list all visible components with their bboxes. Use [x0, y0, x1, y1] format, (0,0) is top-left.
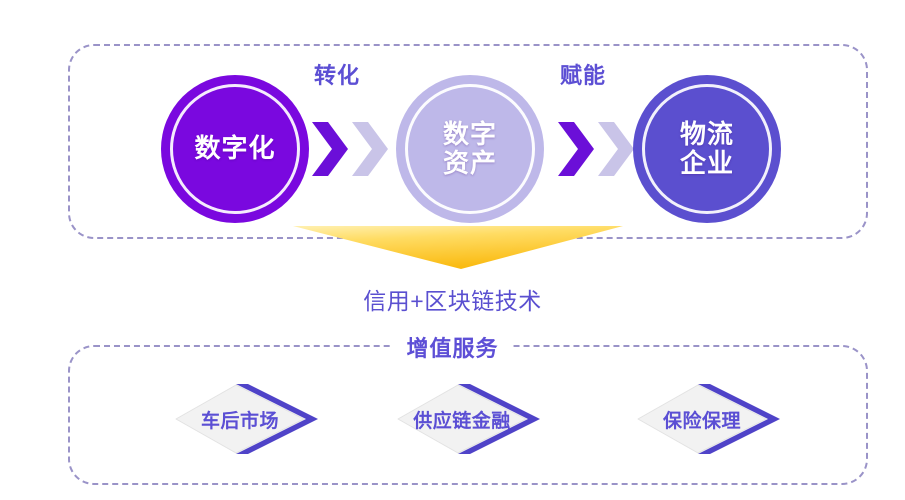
service-card-label: 保险保理: [627, 382, 777, 456]
service-card-label: 供应链金融: [387, 382, 537, 456]
flow-node-label: 数字化: [194, 134, 275, 163]
chevron-right-icon-dark: [556, 120, 596, 178]
flow-node-digital-asset[interactable]: 数字 资产: [396, 75, 544, 223]
transition-label-transform: 转化: [314, 58, 360, 90]
chevron-right-icon-light: [350, 120, 390, 178]
flow-node-label: 数字 资产: [443, 120, 497, 178]
diagram-canvas: 数字化 转化 数字 资产 赋能: [0, 0, 905, 500]
flow-node-digitalization[interactable]: 数字化: [161, 75, 309, 223]
service-card-insurance-factoring[interactable]: 保险保理: [632, 382, 782, 456]
value-added-services-title: 增值服务: [392, 331, 512, 363]
flow-node-label: 物流 企业: [680, 120, 734, 178]
credit-blockchain-caption: 信用+区块链技术: [0, 282, 905, 316]
service-card-label: 车后市场: [165, 382, 315, 456]
transition-label-empower: 赋能: [560, 58, 606, 90]
service-card-supply-chain-finance[interactable]: 供应链金融: [392, 382, 542, 456]
service-card-aftermarket[interactable]: 车后市场: [170, 382, 320, 456]
down-arrow-icon: [293, 222, 623, 270]
chevron-arrow-group-empower: [556, 118, 642, 180]
chevron-arrow-group-transform: [310, 118, 396, 180]
chevron-right-icon-dark: [310, 120, 350, 178]
chevron-right-icon-light: [596, 120, 636, 178]
flow-node-logistics-enterprise[interactable]: 物流 企业: [633, 75, 781, 223]
